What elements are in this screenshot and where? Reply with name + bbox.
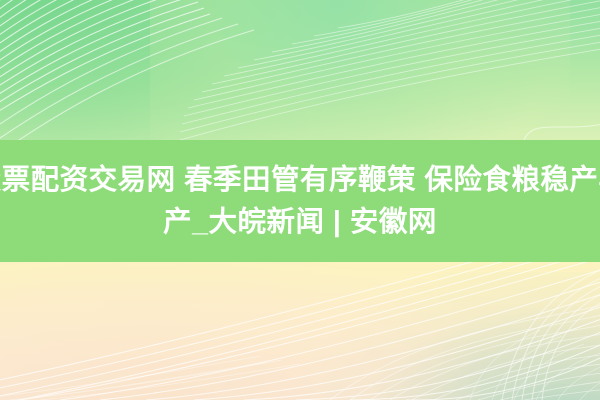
banner-image: 股票配资交易网 春季田管有序鞭策 保险食粮稳产丰 产_大皖新闻 | 安徽网 bbox=[0, 0, 600, 400]
caption-band: 股票配资交易网 春季田管有序鞭策 保险食粮稳产丰 产_大皖新闻 | 安徽网 bbox=[0, 140, 600, 262]
caption-line-2: 产_大皖新闻 | 安徽网 bbox=[163, 201, 437, 243]
caption-line-1: 股票配资交易网 春季田管有序鞭策 保险食粮稳产丰 bbox=[0, 159, 600, 201]
background-wash-bottom-left bbox=[0, 252, 480, 400]
